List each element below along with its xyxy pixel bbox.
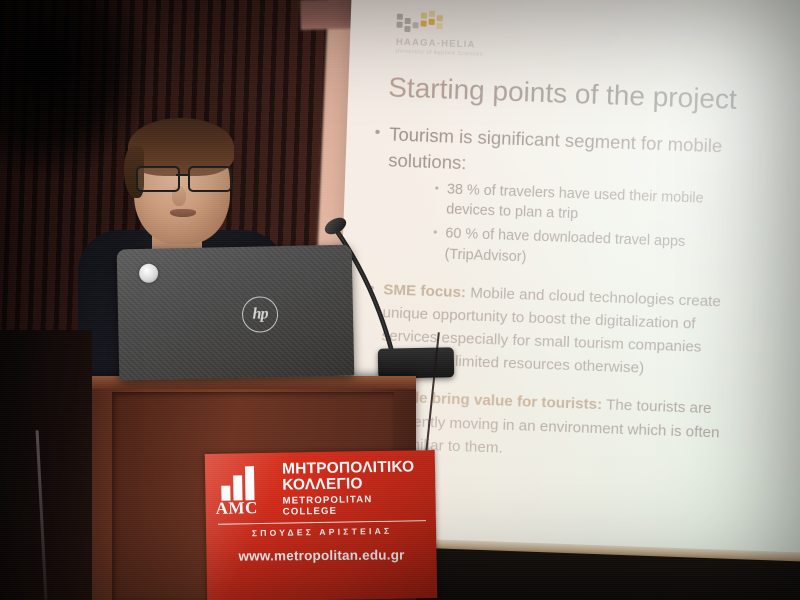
metropolitan-college-banner: AMC ΜΗΤΡΟΠΟΛΙΤΙΚΟ ΚΟΛΛΕΓΙΟ METROPOLITAN … — [205, 450, 438, 600]
right-lens — [188, 166, 232, 192]
bullet-marker-icon: • — [374, 121, 380, 145]
sub-bullet-item: • 60 % of have downloaded travel apps (T… — [432, 223, 800, 278]
microphone-base — [378, 347, 455, 378]
paragraph-marker-icon: • — [369, 278, 375, 301]
sub-bullet-text: 38 % of travelers have used their mobile… — [446, 179, 747, 231]
hp-logo-text: hp — [252, 305, 267, 323]
presentation-photo: HAAGA-HELIA University of Applied Scienc… — [0, 0, 800, 600]
mouth — [170, 209, 196, 217]
banner-sheen — [205, 450, 438, 600]
logo-pixel-blocks — [396, 10, 467, 38]
sub-bullet-text: 60 % of have downloaded travel apps (Tri… — [444, 224, 745, 276]
laptop: hp — [117, 245, 355, 381]
haaga-helia-logo: HAAGA-HELIA University of Applied Scienc… — [396, 10, 518, 59]
left-lens — [136, 166, 180, 192]
glasses-bridge — [176, 174, 188, 176]
eyeglasses — [136, 166, 234, 189]
paragraph-lead: SME focus: — [383, 281, 466, 301]
bullet-text: Tourism is significant segment for mobil… — [388, 121, 745, 186]
lectern-left-shadow — [0, 330, 92, 600]
sub-bullet-marker-icon: • — [434, 179, 439, 198]
slide-title: Starting points of the project — [388, 71, 800, 118]
sub-bullet-marker-icon: • — [433, 223, 438, 242]
